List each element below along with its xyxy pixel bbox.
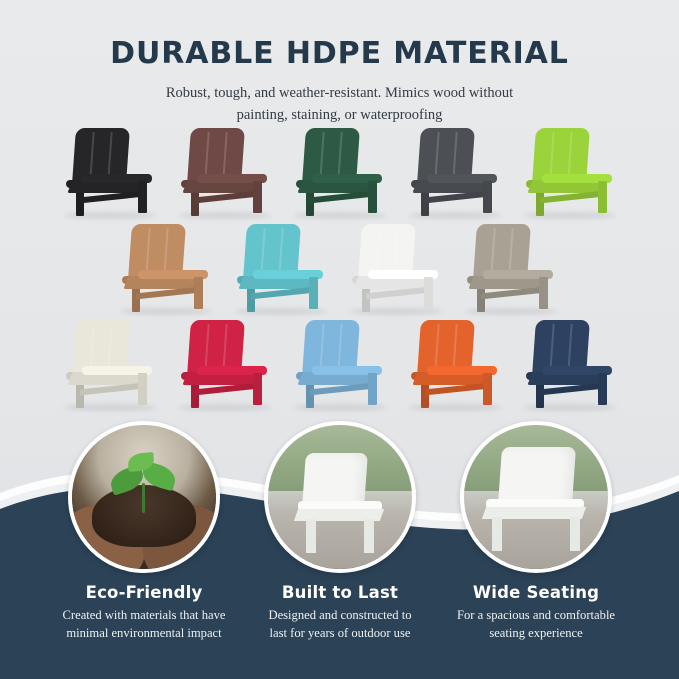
- chair-front-leg: [364, 519, 374, 553]
- chair-back: [498, 447, 576, 505]
- chair-swatch-brown[interactable]: [173, 128, 277, 223]
- feature-description-line-2: last for years of outdoor use: [240, 625, 440, 643]
- chair-front-leg: [253, 181, 262, 213]
- feature-title: Built to Last: [240, 583, 440, 602]
- chair-swatch-gray[interactable]: [459, 224, 563, 319]
- color-swatch-chair-grid: [58, 128, 623, 428]
- chair-front-leg: [424, 277, 433, 309]
- feature-wide-seating[interactable]: Wide Seating For a spacious and comforta…: [436, 421, 636, 643]
- chair-front-leg: [194, 277, 203, 309]
- feature-built-to-last[interactable]: Built to Last Designed and constructed t…: [240, 421, 440, 643]
- chair-back-leg: [492, 517, 502, 551]
- chair-swatch-orange[interactable]: [403, 320, 507, 415]
- chair-row: [114, 224, 624, 319]
- feature-title: Eco-Friendly: [44, 583, 244, 602]
- chair-front-leg: [539, 277, 548, 309]
- feature-description: Created with materials that have minimal…: [44, 607, 244, 643]
- chair-front-leg: [570, 517, 580, 551]
- chair-back-leg: [306, 519, 316, 553]
- chair-front-leg: [483, 181, 492, 213]
- page-subtitle: Robust, tough, and weather-resistant. Mi…: [0, 82, 679, 127]
- feature-description: Designed and constructed to last for yea…: [240, 607, 440, 643]
- hands-holding-seedling-icon: [68, 421, 220, 573]
- plant-stem: [142, 483, 145, 513]
- chair-front-leg: [483, 373, 492, 405]
- feature-description-line-1: Designed and constructed to: [240, 607, 440, 625]
- chair-row: [58, 128, 623, 223]
- chair-swatch-light-blue[interactable]: [288, 320, 392, 415]
- page-title: DURABLE HDPE MATERIAL: [0, 36, 679, 71]
- feature-description-line-1: For a spacious and comfortable: [436, 607, 636, 625]
- chair-front-leg: [368, 373, 377, 405]
- chair-front-leg: [368, 181, 377, 213]
- chair-swatch-aqua[interactable]: [229, 224, 333, 319]
- chair-swatch-navy-blue[interactable]: [518, 320, 622, 415]
- chair-swatch-red[interactable]: [173, 320, 277, 415]
- chair-row: [58, 320, 623, 415]
- feature-description-line-2: minimal environmental impact: [44, 625, 244, 643]
- white-chair-icon: [264, 421, 416, 573]
- chair-swatch-white[interactable]: [344, 224, 448, 319]
- feature-list: Eco-Friendly Created with materials that…: [0, 429, 679, 679]
- chair-front-leg: [598, 181, 607, 213]
- chair-swatch-lime-green[interactable]: [518, 128, 622, 223]
- chair-swatch-black[interactable]: [58, 128, 162, 223]
- chair-front-leg: [138, 181, 147, 213]
- white-chair-wide-seat-icon: [460, 421, 612, 573]
- feature-description: For a spacious and comfortable seating e…: [436, 607, 636, 643]
- chair-back: [302, 453, 368, 507]
- subtitle-line-1: Robust, tough, and weather-resistant. Mi…: [0, 82, 679, 104]
- chair-swatch-dark-gray[interactable]: [403, 128, 507, 223]
- chair-front-leg: [138, 373, 147, 405]
- feature-eco-friendly[interactable]: Eco-Friendly Created with materials that…: [44, 421, 244, 643]
- feature-title: Wide Seating: [436, 583, 636, 602]
- chair-front-leg: [598, 373, 607, 405]
- chair-front-leg: [309, 277, 318, 309]
- chair-swatch-tan[interactable]: [114, 224, 218, 319]
- chair-swatch-dark-green[interactable]: [288, 128, 392, 223]
- feature-description-line-1: Created with materials that have: [44, 607, 244, 625]
- chair-swatch-ivory[interactable]: [58, 320, 162, 415]
- feature-description-line-2: seating experience: [436, 625, 636, 643]
- subtitle-line-2: painting, staining, or waterproofing: [0, 104, 679, 126]
- product-infographic: DURABLE HDPE MATERIAL Robust, tough, and…: [0, 0, 679, 679]
- chair-front-leg: [253, 373, 262, 405]
